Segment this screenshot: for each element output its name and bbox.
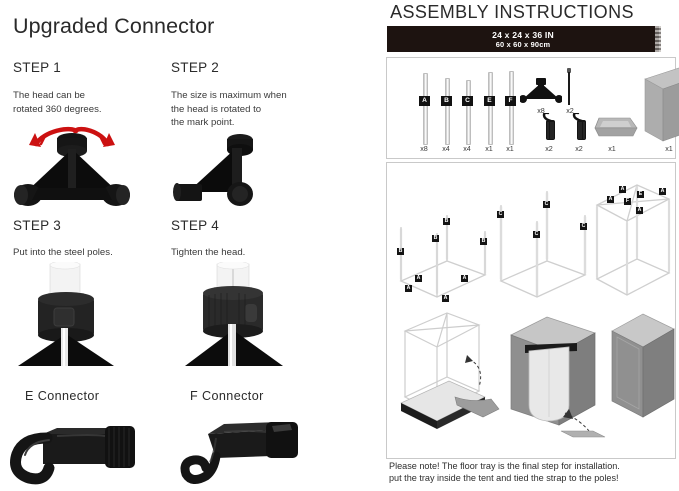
part-pole-a xyxy=(423,73,428,145)
step-4-description: Tighten the head. xyxy=(171,246,331,260)
part-qty-c: x4 xyxy=(458,144,476,153)
top-frame-tag-e: E xyxy=(637,191,644,198)
part-hook-connector-f-icon xyxy=(570,113,590,143)
three-way-connector-angled-body xyxy=(173,134,253,206)
part-qty-strap: x2 xyxy=(559,106,581,115)
connector-on-pole-loose xyxy=(18,262,114,366)
top-frame-tag-f: F xyxy=(624,198,631,205)
part-tag-f: F xyxy=(505,96,516,106)
part-qty-b: x4 xyxy=(437,144,455,153)
parts-list-box: A x8 B x4 C x4 E x1 F x1 x8 xyxy=(386,57,676,159)
part-tag-b: B xyxy=(441,96,452,106)
part-qty-floor-tray: x1 xyxy=(601,144,623,153)
part-floor-tray-icon xyxy=(590,114,638,142)
top-frame-tag-a-2: A xyxy=(607,196,614,203)
f-connector-title: F Connector xyxy=(190,389,264,403)
assembly-instructions-panel: ASSEMBLY INSTRUCTIONS 24 x 24 x 36 IN 60… xyxy=(345,0,679,491)
step-3-label: STEP 3 xyxy=(13,218,61,233)
dimensions-bar: 24 x 24 x 36 IN 60 x 60 x 90cm xyxy=(387,26,659,52)
e-connector-hook-body xyxy=(16,426,136,479)
f-connector-illustration xyxy=(180,412,320,491)
top-frame-tag-a-4: A xyxy=(636,207,643,214)
part-qty-a: x8 xyxy=(415,144,433,153)
frame-tag-b-1: B xyxy=(397,248,404,255)
part-pole-f xyxy=(509,71,514,145)
top-frame-tag-a-3: A xyxy=(659,188,666,195)
dimensions-bar-edge-strip xyxy=(655,26,661,52)
top-frame-tag-a-1: A xyxy=(619,186,626,193)
step-3-description: Put into the steel poles. xyxy=(13,246,173,260)
part-tag-e: E xyxy=(484,96,495,106)
part-hook-connector-e-icon xyxy=(540,113,560,143)
part-tent-cover-icon xyxy=(639,65,679,145)
e-connector-illustration xyxy=(5,418,150,486)
step-1-illustration xyxy=(8,122,143,214)
assembly-frame-with-tray-illustration xyxy=(395,311,503,436)
part-qty-f: x1 xyxy=(501,144,519,153)
frame-tag-c-3: C xyxy=(543,201,550,208)
part-qty-tent-cover: x1 xyxy=(658,144,679,153)
connector-on-pole-tight xyxy=(185,262,283,366)
assembly-title: ASSEMBLY INSTRUCTIONS xyxy=(345,2,679,23)
frame-tag-b-2: B xyxy=(432,235,439,242)
footer-note: Please note! The floor tray is the final… xyxy=(389,460,679,485)
part-strap-icon xyxy=(562,68,576,106)
part-qty-hook-e: x2 xyxy=(538,144,560,153)
assembly-upright-frame-illustration xyxy=(495,181,591,303)
frame-tag-c-4: C xyxy=(580,223,587,230)
frame-tag-b-4: B xyxy=(480,238,487,245)
step-1-description: The head can be rotated 360 degrees. xyxy=(13,89,163,116)
part-qty-hook-f: x2 xyxy=(568,144,590,153)
part-pole-e xyxy=(488,72,493,145)
frame-tag-a-2: A xyxy=(405,285,412,292)
step-2-label: STEP 2 xyxy=(171,60,219,75)
frame-tag-c-1: C xyxy=(497,211,504,218)
dimension-metric: 60 x 60 x 90cm xyxy=(496,40,551,49)
f-connector-hook-body xyxy=(185,422,298,480)
step-4-illustration xyxy=(175,262,293,368)
instruction-sheet: Upgraded Connector STEP 1 The head can b… xyxy=(0,0,679,491)
page-title: Upgraded Connector xyxy=(13,14,214,39)
frame-tag-c-2: C xyxy=(533,231,540,238)
step-1-label: STEP 1 xyxy=(13,60,61,75)
frame-tag-a-3: A xyxy=(461,275,468,282)
part-tag-c: C xyxy=(462,96,473,106)
frame-tag-a-4: A xyxy=(442,295,449,302)
upgraded-connector-panel: Upgraded Connector STEP 1 The head can b… xyxy=(0,0,345,491)
step-2-illustration xyxy=(170,130,300,214)
frame-tag-b-3: B xyxy=(443,218,450,225)
part-pole-b xyxy=(445,78,450,145)
frame-tag-a-1: A xyxy=(415,275,422,282)
part-qty-e: x1 xyxy=(480,144,498,153)
part-three-way-connector-icon xyxy=(520,78,562,104)
assembly-finished-tent-illustration xyxy=(609,311,677,423)
e-connector-title: E Connector xyxy=(25,389,99,403)
assembly-cover-with-door-illustration xyxy=(507,313,607,438)
assembly-steps-box: B B B B A A A A xyxy=(386,162,676,459)
part-tag-a: A xyxy=(419,96,430,106)
step-3-illustration xyxy=(8,262,123,368)
step-4-label: STEP 4 xyxy=(171,218,219,233)
part-pole-c xyxy=(466,80,471,145)
step-2-description: The size is maximum when the head is rot… xyxy=(171,89,331,130)
dimension-imperial: 24 x 24 x 36 IN xyxy=(492,30,554,40)
